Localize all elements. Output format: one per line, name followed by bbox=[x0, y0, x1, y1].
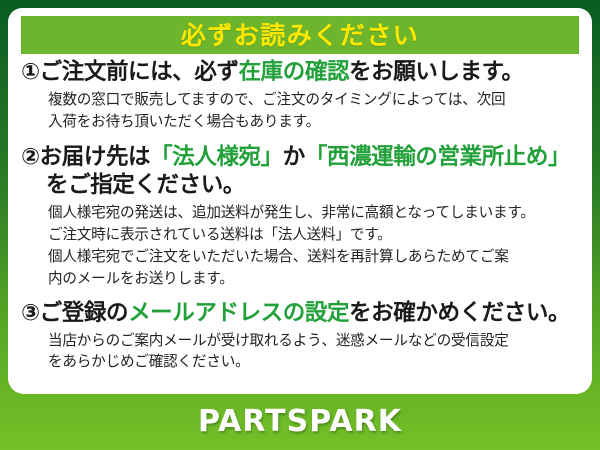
notice-item-2-heading-highlight-1: 「法人様宛」 bbox=[150, 144, 283, 170]
notice-item-2-heading: ②お届け先は「法人様宛」か「西濃運輸の営業所止め」 をご指定ください。 bbox=[21, 143, 579, 201]
notice-card: 必ずお読みください ①ご注文前には、必ず在庫の確認をお願いします。 複数の窓口で… bbox=[0, 0, 600, 450]
notice-footer: PARTSPARK bbox=[0, 394, 600, 450]
notice-item-3: ③ご登録のメールアドレスの設定をお確かめください。 当店からのご案内メールが受け… bbox=[21, 299, 579, 374]
notice-item-2-body-line-1: 個人様宅宛の発送は、追加送料が発生し、非常に高額となってしまいます。 bbox=[48, 202, 579, 224]
notice-item-2-body: 個人様宅宛の発送は、追加送料が発生し、非常に高額となってしまいます。 ご注文時に… bbox=[21, 202, 579, 290]
notice-item-1-heading-part-1: ①ご注文前には、必ず bbox=[21, 59, 239, 85]
notice-item-2-heading-highlight-2: 「西濃運輸の営業所止め」 bbox=[305, 144, 570, 170]
notice-item-1: ①ご注文前には、必ず在庫の確認をお願いします。 複数の窓口で販売してますので、ご… bbox=[21, 58, 579, 133]
notice-items-list: ①ご注文前には、必ず在庫の確認をお願いします。 複数の窓口で販売してますので、ご… bbox=[17, 58, 583, 373]
notice-item-1-heading-part-3: をお願いします。 bbox=[349, 59, 524, 85]
brand-logo-partspark: PARTSPARK bbox=[198, 407, 402, 437]
notice-panel: 必ずお読みください ①ご注文前には、必ず在庫の確認をお願いします。 複数の窓口で… bbox=[8, 8, 592, 394]
notice-banner: 必ずお読みください bbox=[21, 16, 579, 54]
notice-item-2-body-line-3: 個人様宅宛でご注文をいただいた場合、送料を再計算しあらためてご案 bbox=[48, 246, 579, 268]
notice-item-1-body: 複数の窓口で販売してますので、ご注文のタイミングによっては、次回 入荷をお待ち頂… bbox=[21, 89, 579, 133]
notice-item-2-heading-line-2: をご指定ください。 bbox=[21, 171, 579, 200]
notice-item-3-heading-part-1: ③ご登録の bbox=[21, 300, 128, 326]
notice-item-1-heading-highlight: 在庫の確認 bbox=[239, 59, 350, 85]
notice-item-2: ②お届け先は「法人様宛」か「西濃運輸の営業所止め」 をご指定ください。 個人様宅… bbox=[21, 143, 579, 290]
banner-title: 必ずお読みください bbox=[181, 23, 420, 48]
notice-item-3-body: 当店からのご案内メールが受け取れるよう、迷惑メールなどの受信設定 をあらかじめご… bbox=[21, 330, 579, 374]
notice-item-3-body-line-2: をあらかじめご確認ください。 bbox=[48, 351, 579, 373]
notice-item-2-body-line-2: ご注文時に表示されている送料は「法人送料」です。 bbox=[48, 224, 579, 246]
notice-item-1-heading: ①ご注文前には、必ず在庫の確認をお願いします。 bbox=[21, 58, 579, 87]
notice-item-2-heading-part-1: ②お届け先は bbox=[21, 144, 150, 170]
notice-item-3-heading: ③ご登録のメールアドレスの設定をお確かめください。 bbox=[21, 299, 579, 328]
notice-item-3-heading-part-3: をお確かめください。 bbox=[349, 300, 570, 326]
notice-item-3-heading-highlight: メールアドレスの設定 bbox=[128, 300, 349, 326]
notice-item-3-body-line-1: 当店からのご案内メールが受け取れるよう、迷惑メールなどの受信設定 bbox=[48, 330, 579, 352]
notice-item-1-body-line-2: 入荷をお待ち頂いただく場合もあります。 bbox=[48, 111, 579, 133]
notice-item-2-body-line-4: 内のメールをお送りします。 bbox=[48, 268, 579, 290]
notice-item-1-body-line-1: 複数の窓口で販売してますので、ご注文のタイミングによっては、次回 bbox=[48, 89, 579, 111]
notice-item-2-heading-conjunction: か bbox=[283, 144, 305, 170]
